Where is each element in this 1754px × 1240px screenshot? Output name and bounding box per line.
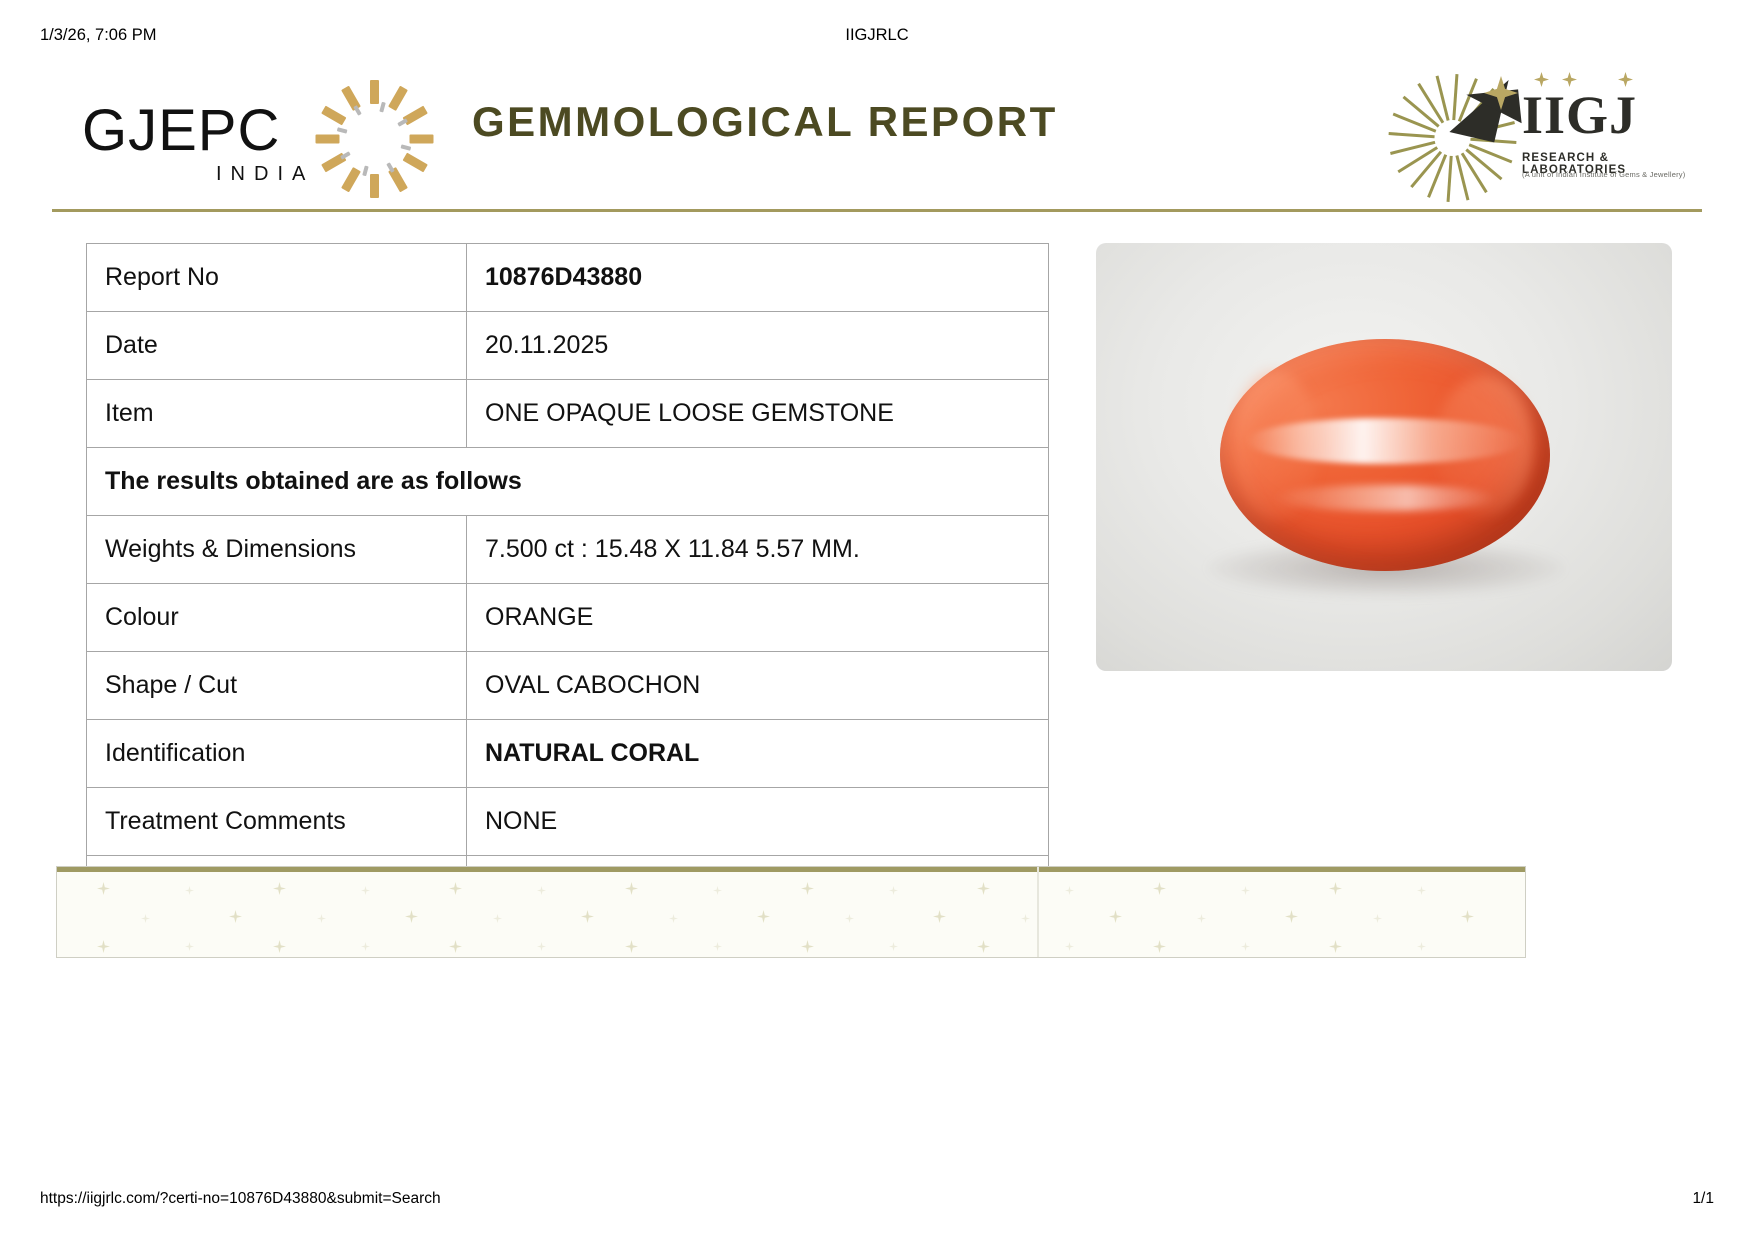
band-top-edge xyxy=(57,867,1525,872)
row-value-date: 20.11.2025 xyxy=(467,312,1049,380)
row-label-item: Item xyxy=(87,380,467,448)
row-label-report-no: Report No xyxy=(87,244,467,312)
gjepc-logo: GJEPC INDIA xyxy=(82,80,462,192)
report-page: 1/3/26, 7:06 PM IIGJRLC GJEPC INDIA GEMM… xyxy=(0,0,1754,1240)
table-row: Treatment Comments NONE xyxy=(87,788,1049,856)
row-value-colour: ORANGE xyxy=(467,584,1049,652)
print-header: 1/3/26, 7:06 PM IIGJRLC xyxy=(0,26,1754,48)
sunburst-icon xyxy=(314,80,434,198)
gjepc-sublabel: INDIA xyxy=(216,163,314,186)
report-table-body: Report No 10876D43880 Date 20.11.2025 It… xyxy=(87,244,1049,924)
gem-specular-band xyxy=(1246,418,1523,464)
row-value-item: ONE OPAQUE LOOSE GEMSTONE xyxy=(467,380,1049,448)
table-row: Shape / Cut OVAL CABOCHON xyxy=(87,652,1049,720)
gemstone-image xyxy=(1220,339,1550,571)
table-row: Weights & Dimensions 7.500 ct : 15.48 X … xyxy=(87,516,1049,584)
print-footer: https://iigjrlc.com/?certi-no=10876D4388… xyxy=(0,1190,1754,1212)
iigj-fineprint: (A unit of Indian Institute of Gems & Je… xyxy=(1522,170,1712,179)
masthead-divider xyxy=(52,209,1702,212)
table-row: Report No 10876D43880 xyxy=(87,244,1049,312)
page-title: GEMMOLOGICAL REPORT xyxy=(472,98,1058,146)
print-footer-page: 1/1 xyxy=(1692,1190,1714,1208)
row-value-treatment-comments: NONE xyxy=(467,788,1049,856)
row-value-shape-cut: OVAL CABOCHON xyxy=(467,652,1049,720)
row-value-report-no: 10876D43880 xyxy=(467,244,1049,312)
table-row: Date 20.11.2025 xyxy=(87,312,1049,380)
row-label-identification: Identification xyxy=(87,720,467,788)
report-content: Report No 10876D43880 Date 20.11.2025 It… xyxy=(86,243,1672,924)
row-label-date: Date xyxy=(87,312,467,380)
table-row: Identification NATURAL CORAL xyxy=(87,720,1049,788)
diamond-wing-icon xyxy=(1456,74,1532,148)
security-pattern-band xyxy=(56,866,1526,958)
gemstone-photo xyxy=(1096,243,1672,671)
row-label-treatment-comments: Treatment Comments xyxy=(87,788,467,856)
masthead: GJEPC INDIA GEMMOLOGICAL REPORT xyxy=(52,62,1702,210)
report-table: Report No 10876D43880 Date 20.11.2025 It… xyxy=(86,243,1049,924)
row-label-shape-cut: Shape / Cut xyxy=(87,652,467,720)
row-label-weights-dimensions: Weights & Dimensions xyxy=(87,516,467,584)
gem-secondary-band xyxy=(1273,485,1497,511)
iigj-logo: IIGJ RESEARCH & LABORATORIES (A unit of … xyxy=(1382,66,1702,206)
print-doc-title: IIGJRLC xyxy=(0,26,1754,45)
row-value-weights-dimensions: 7.500 ct : 15.48 X 11.84 5.57 MM. xyxy=(467,516,1049,584)
table-row: Item ONE OPAQUE LOOSE GEMSTONE xyxy=(87,380,1049,448)
row-label-results-heading: The results obtained are as follows xyxy=(87,448,1049,516)
iigj-wordmark: IIGJ xyxy=(1522,88,1637,142)
print-footer-url: https://iigjrlc.com/?certi-no=10876D4388… xyxy=(40,1190,441,1208)
row-value-identification: NATURAL CORAL xyxy=(467,720,1049,788)
table-row: The results obtained are as follows xyxy=(87,448,1049,516)
table-row: Colour ORANGE xyxy=(87,584,1049,652)
row-label-colour: Colour xyxy=(87,584,467,652)
gjepc-wordmark: GJEPC xyxy=(82,102,280,160)
sparkle-star-pattern xyxy=(57,874,1525,957)
